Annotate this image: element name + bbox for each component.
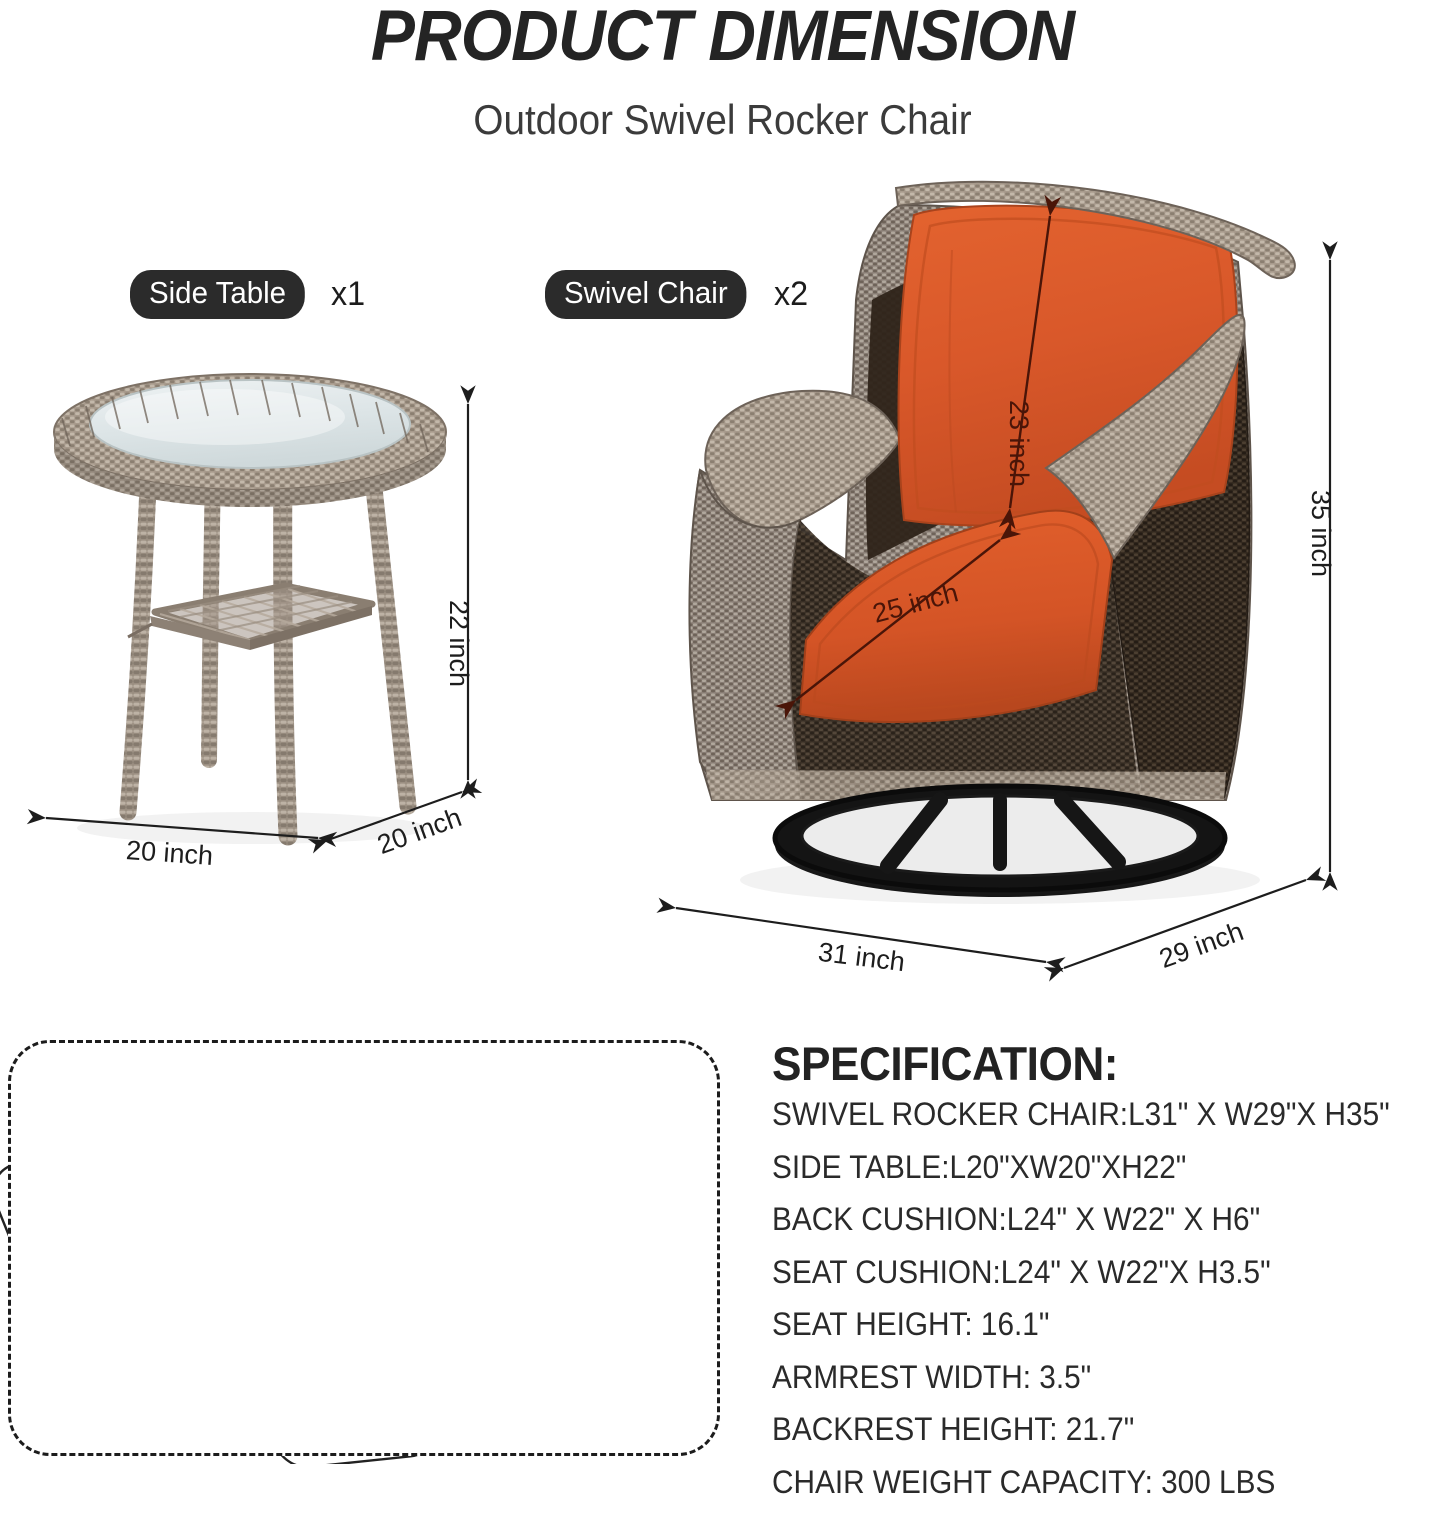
spec-line-armrest-width: ARMREST WIDTH: 3.5"	[772, 1361, 1404, 1393]
chair-width-label: 31 inch	[816, 937, 906, 978]
side-table-illustration	[54, 374, 446, 844]
infographic-page: PRODUCT DIMENSION Outdoor Swivel Rocker …	[0, 0, 1445, 1464]
table-top	[54, 374, 446, 507]
badge-swivel-chair: Swivel Chair	[545, 270, 747, 319]
swivel-chair-badge-row: Swivel Chair x2	[545, 270, 810, 319]
page-subtitle: Outdoor Swivel Rocker Chair	[58, 96, 1387, 144]
spec-line-backrest-height: BACKREST HEIGHT: 21.7"	[772, 1413, 1404, 1445]
spec-line-seat-height: SEAT HEIGHT: 16.1"	[772, 1308, 1404, 1340]
spec-line-side-table: SIDE TABLE:L20"XW20"XH22"	[772, 1151, 1404, 1183]
spec-line-weight-capacity: CHAIR WEIGHT CAPACITY: 300 LBS	[772, 1466, 1404, 1498]
page-title: PRODUCT DIMENSION	[51, 0, 1395, 77]
table-width-line	[46, 818, 318, 838]
swivel-base	[775, 786, 1225, 897]
specification-title: SPECIFICATION:	[772, 1036, 1118, 1091]
chair-backrest-label: 23 inch	[1003, 400, 1034, 487]
chair-depth-label: 29 inch	[1155, 916, 1247, 975]
badge-side-table: Side Table	[130, 270, 305, 319]
spec-line-seat-cushion: SEAT CUSHION:L24" X W22"X H3.5"	[772, 1256, 1404, 1288]
back-cushion	[899, 206, 1238, 526]
table-depth-label: 20 inch	[373, 802, 465, 861]
table-lower-shelf	[150, 586, 372, 650]
table-width-label: 20 inch	[125, 835, 214, 872]
table-dimension-lines	[46, 404, 468, 840]
badge-side-table-count: x1	[331, 275, 365, 314]
side-table-badge-row: Side Table x1	[130, 270, 367, 319]
layout-panel-border	[8, 1040, 720, 1456]
spec-line-chair: SWIVEL ROCKER CHAIR:L31" X W29"X H35"	[772, 1098, 1404, 1130]
specification-list: SWIVEL ROCKER CHAIR:L31" X W29"X H35" SI…	[772, 1098, 1445, 1518]
table-height-label: 22 inch	[443, 600, 474, 687]
spec-line-back-cushion: BACK CUSHION:L24" X W22" X H6"	[772, 1203, 1404, 1235]
chair-seat-depth-label: 25 inch	[869, 577, 961, 629]
badge-swivel-chair-count: x2	[774, 275, 808, 314]
chair-height-label: 35 inch	[1305, 490, 1336, 577]
seat-cushion	[800, 511, 1112, 722]
chair-dimension-lines	[676, 216, 1330, 968]
